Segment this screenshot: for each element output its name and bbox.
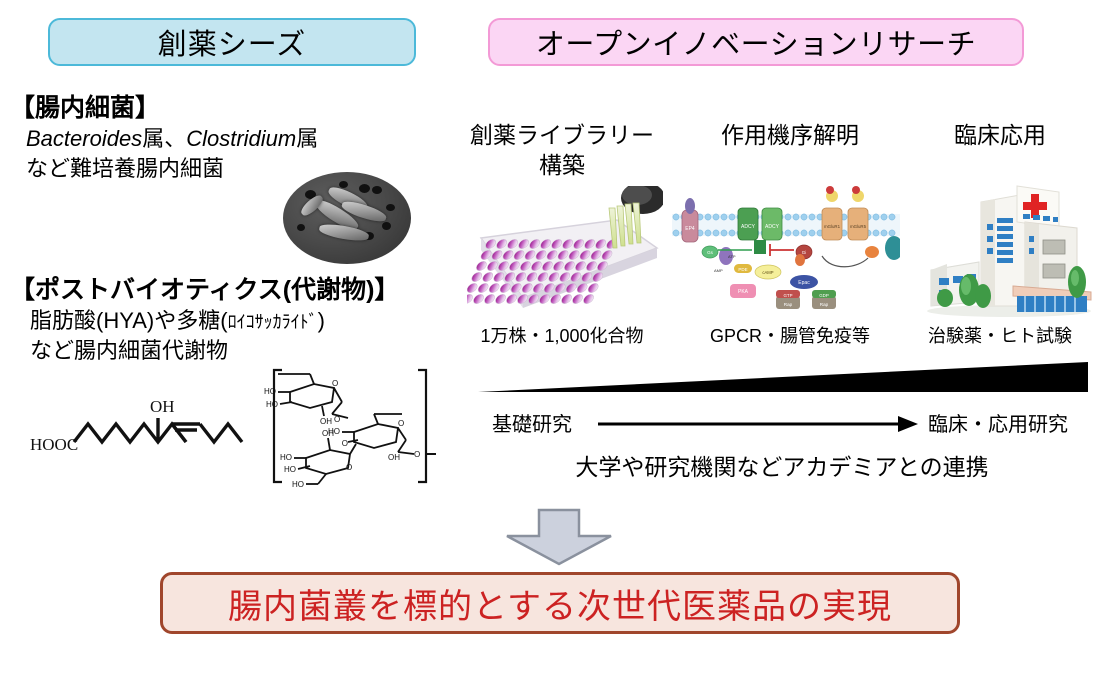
polysaccharide-structure-image: HO HO OH O O HO O OH O O HO HO OH O HO xyxy=(262,362,442,490)
section-heading-gut-bacteria: 【腸内細菌】 xyxy=(10,88,160,124)
pathway-label-ep4: EP4 xyxy=(685,226,695,232)
pathway-label-rap-2: Rap xyxy=(820,302,829,307)
axis-label-basic-research: 基礎研究 xyxy=(492,408,572,437)
section-heading-postbiotics: 【ポストバイオティクス(代謝物)】 xyxy=(10,270,399,306)
genus-bacteroides-suffix: 属、 xyxy=(142,126,186,151)
poly-label-oh-1: OH xyxy=(320,417,332,426)
hya-fatty-acid-structure-image: HOOC OH xyxy=(26,378,266,468)
postbiotics-fatty-acid-text: 脂肪酸(HYA)や多糖( xyxy=(30,308,228,333)
poly-label-ho-6: HO xyxy=(292,480,304,489)
poly-label-oh-3: OH xyxy=(322,429,334,438)
poly-label-o-6: O xyxy=(346,463,352,472)
progression-wedge-shape xyxy=(478,362,1088,394)
header-pill-drug-discovery-seeds: 創薬シーズ xyxy=(48,18,416,66)
pathway-label-gdp: GDP xyxy=(819,293,829,298)
poly-label-o-3: O xyxy=(342,439,348,448)
poly-label-oh-2: OH xyxy=(388,453,400,462)
header-pill-left-label: 創薬シーズ xyxy=(158,21,307,63)
pathway-label-gi: Gi xyxy=(802,250,807,255)
postbiotics-compound-line: 脂肪酸(HYA)や多糖(ﾛｲｺｻｯｶﾗｲﾄﾞ) xyxy=(30,306,325,337)
stage-title-library-construction: 創薬ライブラリー 構築 xyxy=(462,120,662,180)
genus-bacteroides: Bacteroides xyxy=(26,126,142,151)
pathway-label-adcy-2: ADCY xyxy=(765,224,780,230)
genus-clostridium: Clostridium xyxy=(186,126,296,151)
poly-label-o-2: O xyxy=(334,415,340,424)
poly-label-ho-1: HO xyxy=(264,387,276,396)
poly-label-o-5: O xyxy=(414,450,420,459)
sem-micrograph-bacteria-image xyxy=(283,172,411,264)
pathway-label-mglur1: mGluR1 xyxy=(824,224,841,229)
poly-label-ho-4: HO xyxy=(280,453,292,462)
pathway-label-camp: cAMP xyxy=(762,270,773,275)
conclusion-banner: 腸内菌叢を標的とする次世代医薬品の実現 xyxy=(160,572,960,634)
postbiotics-description-line: など腸内細菌代謝物 xyxy=(30,336,228,366)
pathway-label-gtp: GTP xyxy=(783,293,792,298)
axis-label-clinical-applied-research: 臨床・応用研究 xyxy=(928,408,1068,437)
genus-clostridium-suffix: 属 xyxy=(296,126,318,151)
poly-label-o-4: O xyxy=(398,419,404,428)
pathway-label-adcy-1: ADCY xyxy=(741,224,756,230)
pathway-label-epac: Epac xyxy=(798,280,810,286)
research-progress-arrow xyxy=(598,412,918,436)
pathway-label-amp: AMP xyxy=(714,268,723,273)
pathway-label-gs: Gs xyxy=(707,250,714,255)
gut-bacteria-description-line: など難培養腸内細菌 xyxy=(26,154,224,184)
stage-caption-library-construction: 1万株・1,000化合物 xyxy=(462,322,662,348)
header-pill-right-label: オープンイノベーションリサーチ xyxy=(536,21,976,63)
postbiotics-leukosaccharide-text: ﾛｲｺｻｯｶﾗｲﾄﾞ xyxy=(228,312,318,332)
pathway-label-mglur5: mGluR5 xyxy=(850,224,867,229)
poly-label-ho-5: HO xyxy=(284,465,296,474)
pathway-label-rap-1: Rap xyxy=(784,302,793,307)
header-pill-open-innovation-research: オープンイノベーションリサーチ xyxy=(488,18,1024,66)
stage-title-mechanism-elucidation: 作用機序解明 xyxy=(690,120,890,150)
gut-bacteria-genus-line: Bacteroides属、Clostridium属 xyxy=(26,124,318,154)
poly-label-ho-2: HO xyxy=(266,400,278,409)
pathway-label-pde: PDE xyxy=(738,267,747,272)
hya-label-oh: OH xyxy=(150,397,175,416)
pathway-label-pka: PKA xyxy=(738,289,749,295)
hya-label-hooc: HOOC xyxy=(30,435,78,454)
stage-title-clinical-application: 臨床応用 xyxy=(915,120,1085,150)
gpcr-signaling-pathway-image: EP4 Gs ADCY ADCY Gi mGluR1 mGluR5 ATP AM… xyxy=(672,186,900,314)
microplate-pipetting-image xyxy=(467,186,663,316)
stage-caption-clinical-application: 治験薬・ヒト試験 xyxy=(915,322,1085,348)
poly-label-o-1: O xyxy=(332,379,338,388)
conclusion-text: 腸内菌叢を標的とする次世代医薬品の実現 xyxy=(228,579,892,628)
postbiotics-paren-close: ) xyxy=(318,308,325,333)
stage-caption-mechanism-elucidation: GPCR・腸管免疫等 xyxy=(690,322,890,348)
pathway-label-atp: ATP xyxy=(728,254,736,259)
hospital-illustration-image xyxy=(925,178,1093,318)
down-arrow-shape xyxy=(505,508,613,566)
academia-collaboration-note: 大学や研究機関などアカデミアとの連携 xyxy=(462,448,1102,482)
